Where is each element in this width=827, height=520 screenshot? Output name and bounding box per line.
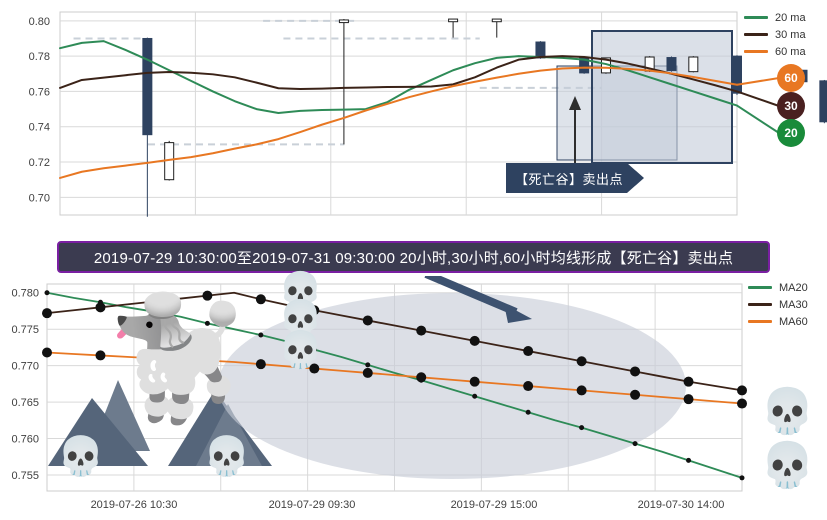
arrow-head-icon	[627, 163, 644, 193]
skull-emoji-stack-3: 💀	[278, 332, 323, 368]
top-chart-legend: 20 ma30 ma60 ma	[744, 10, 806, 61]
data-point-marker	[737, 399, 747, 409]
legend-color-swatch	[744, 33, 768, 36]
data-point-marker	[42, 308, 52, 318]
badge-connector	[737, 78, 779, 85]
candle-body	[733, 56, 742, 93]
data-point-marker	[416, 372, 426, 382]
data-point-marker	[470, 377, 480, 387]
legend-color-swatch	[748, 320, 772, 323]
candle-body	[820, 81, 827, 122]
candle-body	[689, 57, 698, 72]
x-axis-tick-label: 2019-07-30 14:00	[638, 499, 725, 511]
top-legend-item-2: 60 ma	[744, 44, 806, 59]
candle-body	[536, 42, 545, 58]
y-axis-tick-label: 0.76	[29, 86, 50, 98]
skull-emoji-left2: 💀	[203, 438, 250, 476]
chart-title-banner: 2019-07-29 10:30:00至2019-07-31 09:30:00 …	[57, 241, 770, 273]
legend-color-swatch	[744, 50, 768, 53]
skull-emoji-right-1: 💀	[760, 390, 815, 434]
chart-title-text: 2019-07-29 10:30:00至2019-07-31 09:30:00 …	[94, 247, 733, 268]
top-chart-panel: 0.800.780.760.740.720.70 20 ma30 ma60 ma…	[0, 0, 827, 236]
ma20-badge: 20	[777, 119, 805, 147]
data-point-marker	[365, 362, 370, 367]
ma60-badge: 60	[777, 64, 805, 92]
sell-point-label: 【死亡谷】卖出点	[506, 163, 627, 193]
skull-emoji-left: 💀	[57, 438, 104, 476]
x-axis-tick-label: 2019-07-26 10:30	[91, 499, 178, 511]
data-point-marker	[630, 366, 640, 376]
data-point-marker	[472, 394, 477, 399]
legend-label: 30 ma	[775, 29, 806, 41]
bottom-legend-item-2: MA60	[748, 314, 808, 329]
legend-label: MA30	[779, 299, 808, 311]
data-point-marker	[256, 294, 266, 304]
top-legend-item-1: 30 ma	[744, 27, 806, 42]
legend-label: 60 ma	[775, 46, 806, 58]
data-point-marker	[42, 348, 52, 358]
sell-point-annotation: 【死亡谷】卖出点	[506, 163, 644, 193]
data-point-marker	[684, 377, 694, 387]
dog-emoji: 🐩	[104, 300, 251, 418]
legend-label: MA20	[779, 282, 808, 294]
data-point-marker	[258, 333, 263, 338]
y-axis-tick-label: 0.78	[29, 51, 50, 63]
badge-connector	[737, 91, 779, 106]
candle-body	[143, 38, 152, 134]
data-point-marker	[523, 381, 533, 391]
data-point-marker	[740, 475, 745, 480]
data-point-marker	[737, 385, 747, 395]
data-point-marker	[630, 390, 640, 400]
data-point-marker	[526, 410, 531, 415]
candle-body	[492, 19, 501, 22]
legend-label: MA60	[779, 316, 808, 328]
bottom-chart-legend: MA20MA30MA60	[748, 280, 808, 331]
y-axis-tick-label: 0.755	[11, 470, 39, 482]
y-axis-tick-label: 0.760	[11, 434, 39, 446]
y-axis-tick-label: 0.775	[11, 324, 39, 336]
y-axis-tick-label: 0.765	[11, 397, 39, 409]
data-point-marker	[579, 425, 584, 430]
legend-color-swatch	[748, 286, 772, 289]
y-axis-tick-label: 0.780	[11, 288, 39, 300]
x-axis-tick-label: 2019-07-29 09:30	[269, 499, 356, 511]
candle-body	[339, 20, 348, 23]
data-point-marker	[577, 385, 587, 395]
data-point-marker	[633, 441, 638, 446]
data-point-marker	[686, 458, 691, 463]
bottom-chart-panel: 0.7800.7750.7700.7650.7600.7552019-07-26…	[0, 276, 827, 520]
badge-connector	[737, 106, 779, 133]
data-point-marker	[45, 290, 50, 295]
y-axis-tick-label: 0.72	[29, 157, 50, 169]
data-point-marker	[470, 336, 480, 346]
top-chart-plot: 0.800.780.760.740.720.70	[0, 0, 827, 236]
data-point-marker	[363, 315, 373, 325]
y-axis-tick-label: 0.70	[29, 192, 50, 204]
data-point-marker	[256, 359, 266, 369]
y-axis-tick-label: 0.80	[29, 16, 50, 28]
data-point-marker	[577, 356, 587, 366]
skull-emoji-right-2: 💀	[760, 444, 815, 488]
data-point-marker	[523, 346, 533, 356]
data-point-marker	[363, 368, 373, 378]
legend-label: 20 ma	[775, 12, 806, 24]
bottom-legend-item-1: MA30	[748, 297, 808, 312]
ma30-badge: 30	[777, 92, 805, 120]
data-point-marker	[684, 394, 694, 404]
chart-screenshot-root: 0.800.780.760.740.720.70 20 ma30 ma60 ma…	[0, 0, 827, 520]
bottom-legend-item-0: MA20	[748, 280, 808, 295]
data-point-marker	[416, 326, 426, 336]
y-axis-tick-label: 0.770	[11, 361, 39, 373]
candle-body	[449, 19, 458, 22]
legend-color-swatch	[744, 16, 768, 19]
y-axis-tick-label: 0.74	[29, 122, 50, 134]
legend-color-swatch	[748, 303, 772, 306]
x-axis-tick-label: 2019-07-29 15:00	[451, 499, 538, 511]
candle-body	[667, 58, 676, 71]
top-legend-item-0: 20 ma	[744, 10, 806, 25]
